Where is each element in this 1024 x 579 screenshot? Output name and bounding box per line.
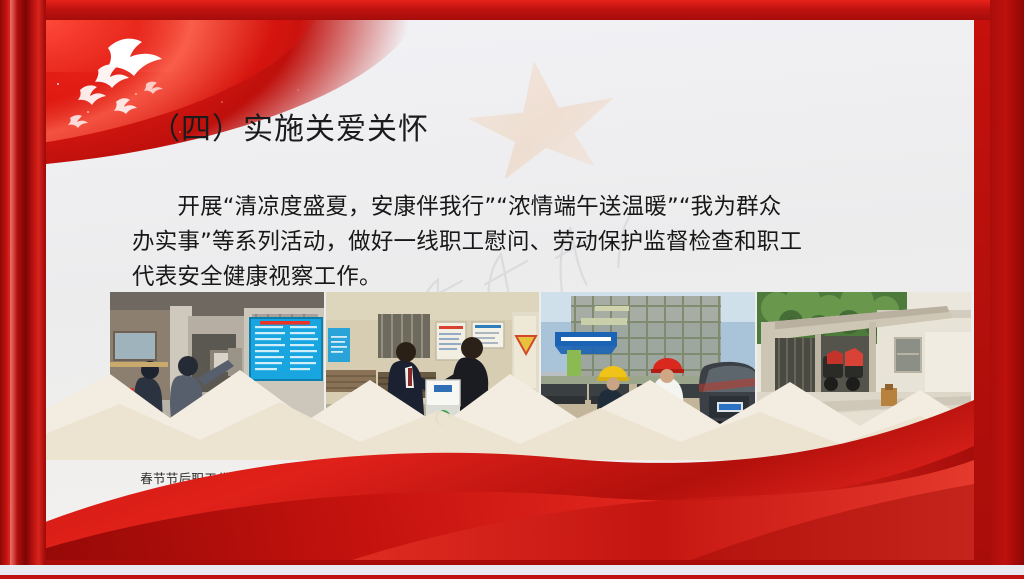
body-line-2: 办实事”等系列活动，做好一线职工慰问、劳动保护监督检查和职工 — [132, 225, 960, 260]
frame-bottom-bar — [0, 565, 1024, 579]
page-title: （四）实施关爱关怀 — [150, 104, 429, 148]
body-paragraph: 开展“清凉度盛夏，安康伴我行”“浓情端午送温暖”“我为群众 办实事”等系列活动，… — [132, 190, 960, 295]
frame-top-silk — [0, 0, 1024, 20]
red-silk-wave-icon — [40, 374, 974, 560]
body-line-1: 开展“清凉度盛夏，安康伴我行”“浓情端午送温暖”“我为群众 — [132, 190, 960, 225]
body-line-3: 代表安全健康视察工作。 — [132, 260, 960, 295]
star-icon — [438, 48, 648, 178]
frame-left-silk — [0, 0, 46, 579]
slide-root: （四）实施关爱关怀 开展“清凉度盛夏，安康伴我行”“浓情端午送温暖”“我为群众 … — [0, 0, 1024, 579]
slide-canvas: （四）实施关爱关怀 开展“清凉度盛夏，安康伴我行”“浓情端午送温暖”“我为群众 … — [40, 20, 974, 560]
frame-right-silk — [990, 0, 1024, 579]
